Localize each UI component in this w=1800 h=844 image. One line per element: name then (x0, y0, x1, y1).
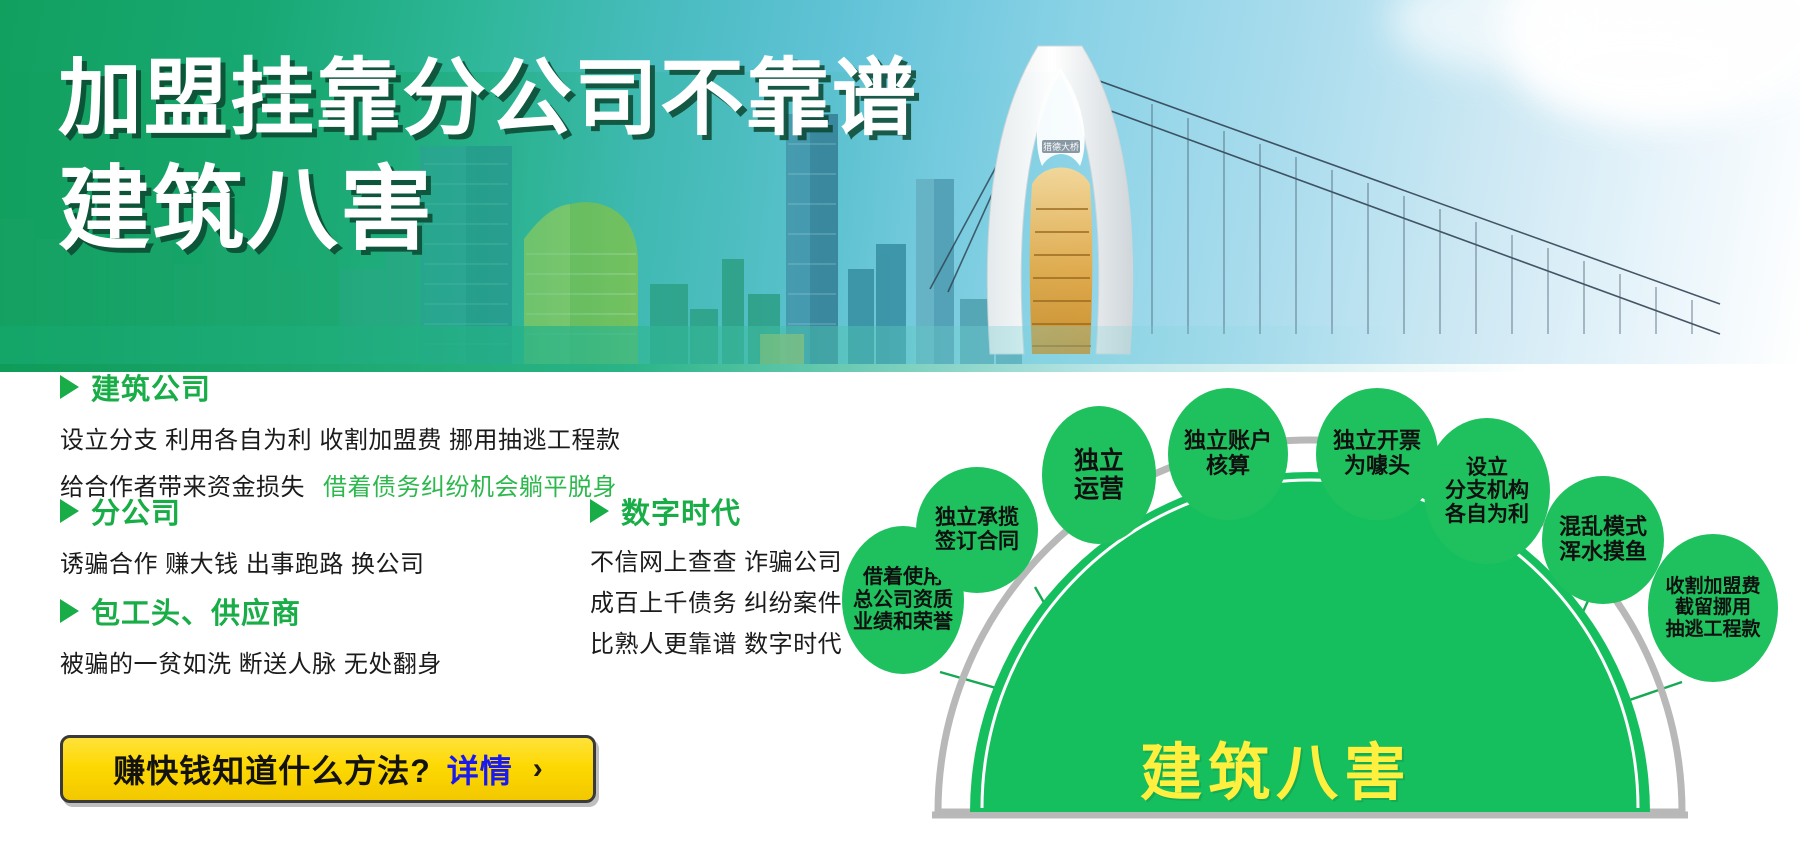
triangle-bullet-icon (60, 375, 79, 399)
body-text: 诱骗合作 赚大钱 出事跑路 换公司 (60, 551, 425, 578)
section-body-line: 比熟人更靠谱 数字时代 (590, 624, 842, 659)
diagram-bubble-2[interactable]: 独立承揽 签订合同 (916, 467, 1038, 593)
section-body-line: 被骗的一贫如洗 断送人脉 无处翻身 (60, 644, 442, 679)
bubble-line: 分支机构 (1441, 479, 1533, 503)
cta-main-label: 赚快钱知道什么方法? (113, 746, 431, 792)
diagram-bubble-4[interactable]: 独立账户 核算 (1168, 388, 1288, 520)
bubble-line: 浑水摸鱼 (1555, 540, 1651, 565)
section-body-line: 不信网上查查 诈骗公司 (590, 542, 842, 577)
triangle-bullet-icon (60, 499, 79, 523)
section-header: 包工头、供应商 (60, 590, 442, 632)
hero-title-secondary: 建筑八害 (58, 164, 918, 258)
cta-button[interactable]: 赚快钱知道什么方法? 详情 › (60, 735, 596, 803)
section-header: 数字时代 (590, 490, 842, 532)
bubble-line: 独立 (1070, 447, 1128, 475)
triangle-bullet-icon (60, 599, 79, 623)
diagram-bubble-8[interactable]: 收割加盟费 截留挪用 抽逃工程款 (1648, 534, 1778, 682)
section-title: 数字时代 (621, 490, 741, 532)
bubble-line: 独立承揽 (931, 506, 1023, 530)
body-text: 不信网上查查 诈骗公司 (590, 549, 842, 576)
bubble-line: 总公司资质 (849, 589, 957, 611)
body-text: 被骗的一贫如洗 断送人脉 无处翻身 (60, 651, 442, 678)
section-body-line: 设立分支 利用各自为利 收割加盟费 挪用抽逃工程款 (60, 420, 621, 455)
section-contractor-supplier: 包工头、供应商 被骗的一贫如洗 断送人脉 无处翻身 (60, 590, 442, 679)
section-title: 包工头、供应商 (91, 590, 301, 632)
bubble-line: 各自为利 (1441, 503, 1533, 527)
bubble-line: 独立开票 (1329, 429, 1425, 454)
diagram-bubble-5[interactable]: 独立开票 为噱头 (1316, 388, 1438, 520)
bubble-line: 业绩和荣誉 (849, 611, 957, 633)
diagram-panel: 借着使用 总公司资质 业绩和荣誉 独立承揽 签订合同 独立 运营 独立账户 核算… (820, 372, 1800, 844)
section-body-line: 诱骗合作 赚大钱 出事跑路 换公司 (60, 544, 425, 579)
bubble-line: 抽逃工程款 (1661, 619, 1764, 640)
section-digital-era: 数字时代 不信网上查查 诈骗公司 成百上千债务 纠纷案件 比熟人更靠谱 数字时代 (590, 490, 842, 659)
section-title: 分公司 (91, 490, 181, 532)
chevron-right-icon: › (533, 754, 543, 784)
section-header: 分公司 (60, 490, 425, 532)
hero-title-group: 加盟挂靠分公司不靠谱 建筑八害 (58, 56, 918, 258)
section-header: 建筑公司 (60, 366, 621, 408)
section-title: 建筑公司 (91, 366, 211, 408)
bubble-line: 独立账户 (1180, 429, 1276, 454)
body-text: 比熟人更靠谱 数字时代 (590, 631, 842, 658)
cta-link-label[interactable]: 详情 (447, 746, 513, 792)
body-text: 设立分支 利用各自为利 收割加盟费 挪用抽逃工程款 (60, 427, 621, 454)
dome-center-label: 建筑八害 (1140, 722, 1412, 812)
triangle-bullet-icon (590, 499, 609, 523)
diagram-bubble-6[interactable]: 设立 分支机构 各自为利 (1424, 418, 1550, 564)
bubble-line: 设立 (1441, 456, 1533, 480)
bubble-line: 为噱头 (1329, 454, 1425, 479)
section-body-line: 成百上千债务 纠纷案件 (590, 583, 842, 618)
section-construction-company: 建筑公司 设立分支 利用各自为利 收割加盟费 挪用抽逃工程款 给合作者带来资金损… (60, 366, 621, 502)
hero-banner: 猎德大桥 加盟挂靠分公司不靠谱 建筑八害 (0, 0, 1800, 372)
bubble-line: 核算 (1180, 454, 1276, 479)
bubble-line: 运营 (1070, 475, 1128, 503)
bubble-line: 混乱模式 (1555, 515, 1651, 540)
diagram-bubble-7[interactable]: 混乱模式 浑水摸鱼 (1542, 476, 1664, 604)
bubble-line: 截留挪用 (1661, 597, 1764, 618)
diagram-bubble-3[interactable]: 独立 运营 (1042, 406, 1156, 544)
section-branch-company: 分公司 诱骗合作 赚大钱 出事跑路 换公司 (60, 490, 425, 579)
body-text: 成百上千债务 纠纷案件 (590, 590, 842, 617)
bubble-line: 收割加盟费 (1661, 576, 1764, 597)
bubble-line: 签订合同 (931, 530, 1023, 554)
hero-title-primary: 加盟挂靠分公司不靠谱 (58, 56, 918, 142)
